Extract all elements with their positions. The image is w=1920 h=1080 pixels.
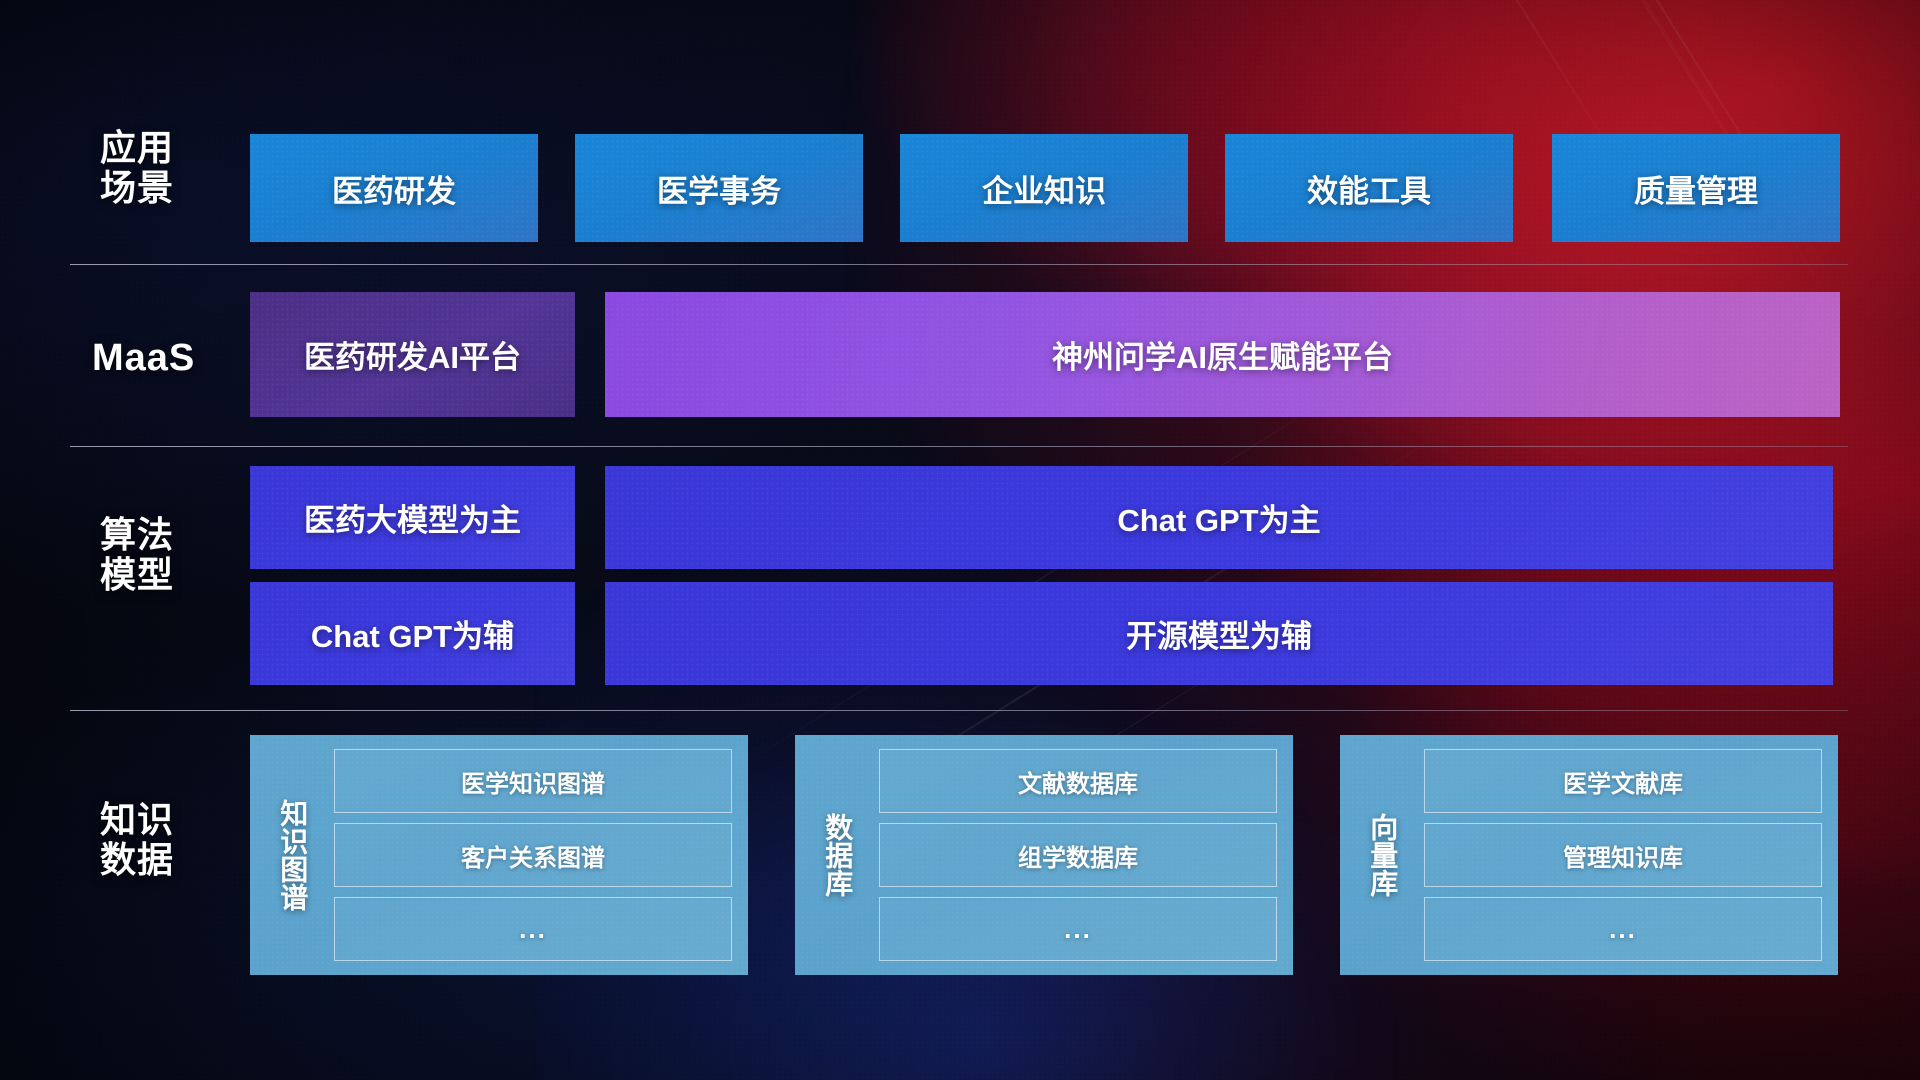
knowledge-card-graph-items: 医学知识图谱 客户关系图谱 ... [334,749,732,961]
knowledge-item-label: 文献数据库 [1018,764,1138,799]
row-label-application-line1: 应用 [100,128,250,168]
application-box-1[interactable]: 医药研发 [250,134,538,242]
knowledge-item[interactable]: 医学文献库 [1424,749,1822,813]
knowledge-item-label: 管理知识库 [1563,838,1683,873]
algorithm-box-pharma-main[interactable]: 医药大模型为主 [250,466,575,569]
algorithm-box-chatgpt-aux[interactable]: Chat GPT为辅 [250,582,575,685]
knowledge-item-label: ... [1064,914,1092,945]
knowledge-item[interactable]: ... [879,897,1277,961]
maas-box-shenzhou-platform-label: 神州问学AI原生赋能平台 [1052,332,1393,377]
application-box-2-label: 医学事务 [657,166,781,211]
architecture-diagram: 应用 场景 医药研发 医学事务 企业知识 效能工具 质量管理 MaaS 医药研发… [0,0,1920,1080]
application-box-5-label: 质量管理 [1634,166,1758,211]
row-label-knowledge-line1: 知识 [100,800,250,840]
application-box-5[interactable]: 质量管理 [1552,134,1840,242]
knowledge-card-graph[interactable]: 知识图谱 医学知识图谱 客户关系图谱 ... [250,735,748,975]
divider-2 [70,446,1848,447]
row-label-algorithm-line1: 算法 [100,515,250,555]
algorithm-box-chatgpt-main[interactable]: Chat GPT为主 [605,466,1833,569]
row-label-application-line2: 场景 [100,168,250,208]
knowledge-item-label: 客户关系图谱 [461,838,605,873]
knowledge-card-vector-vertical-label: 向量库 [1354,749,1410,961]
algorithm-box-opensource-aux[interactable]: 开源模型为辅 [605,582,1833,685]
knowledge-card-database-items: 文献数据库 组学数据库 ... [879,749,1277,961]
knowledge-item[interactable]: ... [1424,897,1822,961]
knowledge-card-database[interactable]: 数据库 文献数据库 组学数据库 ... [795,735,1293,975]
divider-1 [70,264,1848,265]
row-label-maas: MaaS [92,337,262,380]
knowledge-card-database-vertical-label: 数据库 [809,749,865,961]
knowledge-item-label: 医学知识图谱 [461,764,605,799]
algorithm-box-opensource-aux-label: 开源模型为辅 [1126,611,1312,656]
maas-box-pharma-ai-platform-label: 医药研发AI平台 [304,332,521,377]
application-box-4[interactable]: 效能工具 [1225,134,1513,242]
knowledge-item[interactable]: 客户关系图谱 [334,823,732,887]
knowledge-item[interactable]: 文献数据库 [879,749,1277,813]
application-box-3[interactable]: 企业知识 [900,134,1188,242]
row-label-knowledge-line2: 数据 [100,840,250,880]
row-label-algorithm-line2: 模型 [100,555,250,595]
knowledge-card-vector[interactable]: 向量库 医学文献库 管理知识库 ... [1340,735,1838,975]
application-box-3-label: 企业知识 [982,166,1106,211]
knowledge-item[interactable]: 组学数据库 [879,823,1277,887]
knowledge-item[interactable]: 管理知识库 [1424,823,1822,887]
application-box-2[interactable]: 医学事务 [575,134,863,242]
knowledge-item-label: 医学文献库 [1563,764,1683,799]
application-box-1-label: 医药研发 [332,166,456,211]
knowledge-card-graph-vertical-label: 知识图谱 [264,749,320,961]
row-label-maas-line1: MaaS [92,337,262,380]
knowledge-item-label: ... [1609,914,1637,945]
knowledge-item-label: 组学数据库 [1018,838,1138,873]
row-label-application: 应用 场景 [100,128,250,209]
divider-3 [70,710,1848,711]
maas-box-shenzhou-platform[interactable]: 神州问学AI原生赋能平台 [605,292,1840,417]
maas-box-pharma-ai-platform[interactable]: 医药研发AI平台 [250,292,575,417]
knowledge-item[interactable]: 医学知识图谱 [334,749,732,813]
knowledge-item[interactable]: ... [334,897,732,961]
row-label-knowledge: 知识 数据 [100,800,250,881]
knowledge-item-label: ... [519,914,547,945]
algorithm-box-chatgpt-main-label: Chat GPT为主 [1117,495,1320,540]
algorithm-box-chatgpt-aux-label: Chat GPT为辅 [311,611,514,656]
knowledge-card-vector-items: 医学文献库 管理知识库 ... [1424,749,1822,961]
algorithm-box-pharma-main-label: 医药大模型为主 [304,495,521,540]
application-box-4-label: 效能工具 [1307,166,1431,211]
row-label-algorithm: 算法 模型 [100,515,250,596]
